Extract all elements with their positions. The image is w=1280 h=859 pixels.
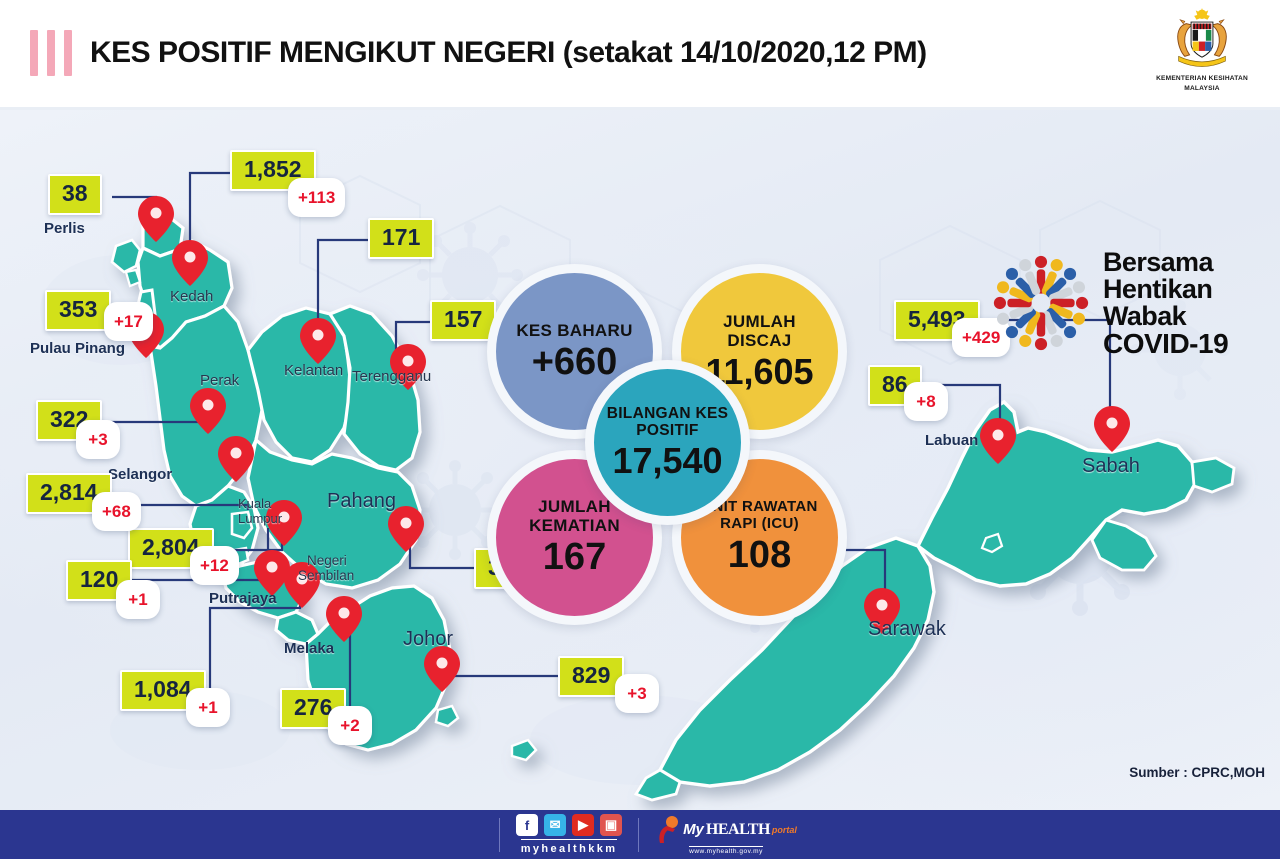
map-label-melaka: Melaka xyxy=(284,640,334,657)
stat-label-jumlah-discaj: JUMLAH DISCAJ xyxy=(723,312,796,350)
pin-kedah xyxy=(172,240,208,286)
pin-labuan xyxy=(980,418,1016,464)
stat-label-discaj-line2: DISCAJ xyxy=(723,331,796,350)
stat-label-kematian-line2: KEMATIAN xyxy=(529,516,620,535)
social-icons: f ✉ ▶ ▣ xyxy=(516,814,622,836)
chip-perlis[interactable]: 38 xyxy=(48,174,102,215)
chip-pulau-pinang[interactable]: 353 xyxy=(45,290,111,331)
campaign-text: Bersama Hentikan Wabak COVID-19 xyxy=(1103,249,1228,358)
campaign-logo: Bersama Hentikan Wabak COVID-19 xyxy=(985,245,1275,370)
badge-pulau-pinang[interactable]: +17 xyxy=(104,302,153,341)
page-header: KES POSITIF MENGIKUT NEGERI (setakat 14/… xyxy=(0,0,1280,110)
social-handle: myhealthkkm xyxy=(521,839,618,855)
stat-value-kes-baharu: +660 xyxy=(532,343,618,383)
footer-divider-right xyxy=(638,818,639,852)
map-label-sarawak: Sarawak xyxy=(868,618,946,641)
pin-selangor xyxy=(218,436,254,482)
map-label-kelantan: Kelantan xyxy=(284,362,343,379)
campaign-line4: COVID-19 xyxy=(1103,330,1228,358)
stat-label-bilangan-kes-positif: BILANGAN KES POSITIF xyxy=(607,405,729,440)
pin-perlis xyxy=(138,196,174,242)
campaign-line2: Hentikan xyxy=(1103,276,1228,303)
badge-selangor[interactable]: +68 xyxy=(92,492,141,531)
myhealth-figure-icon xyxy=(655,815,681,845)
map-label-labuan: Labuan xyxy=(925,432,978,449)
page-title: KES POSITIF MENGIKUT NEGERI (setakat 14/… xyxy=(90,36,927,70)
youtube-icon[interactable]: ▶ xyxy=(572,814,594,836)
myhealth-url: www.myhealth.gov.my xyxy=(689,846,763,855)
map-label-kedah: Kedah xyxy=(170,288,213,305)
stat-value-bilangan-kes-positif: 17,540 xyxy=(612,442,722,480)
stat-label-jumlah-kematian: JUMLAH KEMATIAN xyxy=(529,497,620,535)
social-media-group: f ✉ ▶ ▣ myhealthkkm xyxy=(516,814,622,855)
infographic-canvas: Perlis Kedah Pulau Pinang Perak Kelantan… xyxy=(0,110,1280,810)
badge-putrajaya[interactable]: +1 xyxy=(116,580,160,619)
map-label-sabah: Sabah xyxy=(1082,455,1140,478)
map-label-terengganu: Terengganu xyxy=(352,368,431,385)
badge-melaka[interactable]: +2 xyxy=(328,706,372,745)
instagram-icon[interactable]: ▣ xyxy=(600,814,622,836)
chip-terengganu[interactable]: 157 xyxy=(430,300,496,341)
map-label-selangor: Selangor xyxy=(108,466,172,483)
footer-divider-left xyxy=(499,818,500,852)
page-footer: f ✉ ▶ ▣ myhealthkkm My HEALTH portal www… xyxy=(0,810,1280,859)
stat-value-jumlah-kematian: 167 xyxy=(543,538,606,578)
pin-sabah xyxy=(1094,406,1130,452)
myhealth-health-text: HEALTH xyxy=(706,821,770,839)
stat-label-kematian-line1: JUMLAH xyxy=(529,497,620,516)
myhealth-wordmark: My HEALTH portal xyxy=(655,815,797,845)
map-label-perlis: Perlis xyxy=(44,220,85,237)
stat-label-positif-line1: BILANGAN KES xyxy=(607,405,729,422)
map-label-negeri-sembilan-line1: Negeri xyxy=(307,553,347,568)
map-label-perak: Perak xyxy=(200,372,239,389)
badge-kedah[interactable]: +113 xyxy=(288,178,345,217)
stat-label-discaj-line1: JUMLAH xyxy=(723,312,796,331)
bersama-hentikan-wabak-mark-icon xyxy=(985,247,1097,359)
stat-bubble-bilangan-kes-positif[interactable]: BILANGAN KES POSITIF 17,540 xyxy=(585,360,750,525)
stat-label-icu-line2: RAPI (ICU) xyxy=(701,516,817,533)
ministry-of-health-logo: KEMENTERIAN KESIHATAN MALAYSIA xyxy=(1142,8,1262,104)
map-label-pulau-pinang: Pulau Pinang xyxy=(30,340,125,357)
facebook-icon[interactable]: f xyxy=(516,814,538,836)
badge-perak[interactable]: +3 xyxy=(76,420,120,459)
badge-negeri-sembilan[interactable]: +1 xyxy=(186,688,230,727)
myhealth-portal-text: portal xyxy=(772,825,797,835)
badge-labuan[interactable]: +8 xyxy=(904,382,948,421)
badge-johor[interactable]: +3 xyxy=(615,674,659,713)
map-label-putrajaya: Putrajaya xyxy=(209,590,277,607)
map-label-pahang: Pahang xyxy=(327,490,396,513)
map-label-johor: Johor xyxy=(403,628,453,651)
ministry-caption: KEMENTERIAN KESIHATAN MALAYSIA xyxy=(1156,74,1248,93)
stat-value-icu: 108 xyxy=(728,536,791,576)
stat-label-kes-baharu: KES BAHARU xyxy=(516,321,632,340)
pin-kelantan xyxy=(300,318,336,364)
myhealth-logo[interactable]: My HEALTH portal www.myhealth.gov.my xyxy=(655,815,797,855)
accent-bars-icon xyxy=(30,30,72,76)
campaign-line3: Wabak xyxy=(1103,303,1228,330)
map-label-negeri-sembilan-line2: Sembilan xyxy=(298,568,354,583)
pin-melaka xyxy=(326,596,362,642)
pin-perak xyxy=(190,388,226,434)
malaysia-coat-of-arms-icon xyxy=(1163,8,1241,72)
badge-kuala-lumpur[interactable]: +12 xyxy=(190,546,239,585)
chip-kelantan[interactable]: 171 xyxy=(368,218,434,259)
source-attribution: Sumber : CPRC,MOH xyxy=(1129,765,1265,780)
twitter-icon[interactable]: ✉ xyxy=(544,814,566,836)
stat-label-positif-line2: POSITIF xyxy=(607,422,729,439)
campaign-line1: Bersama xyxy=(1103,249,1228,276)
pin-johor xyxy=(424,646,460,692)
map-label-kuala-lumpur-line1: Kuala xyxy=(238,496,271,511)
map-label-kuala-lumpur-line2: Lumpur xyxy=(238,511,282,526)
myhealth-my-text: My xyxy=(683,821,704,838)
